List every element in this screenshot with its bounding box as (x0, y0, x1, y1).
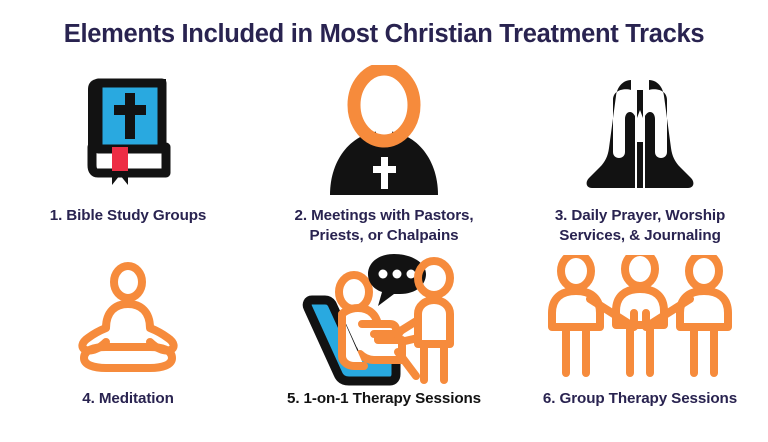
page-title: Elements Included in Most Christian Trea… (0, 20, 768, 48)
caption-item-6: 6. Group Therapy Sessions (537, 389, 743, 409)
element-item-6: 6. Group Therapy Sessions (512, 250, 768, 435)
element-item-1: 1. Bible Study Groups (0, 62, 256, 250)
caption-item-5: 5. 1-on-1 Therapy Sessions (281, 389, 487, 409)
element-item-2: 2. Meetings with Pastors, Priests, or Ch… (256, 62, 512, 250)
element-item-5: 5. 1-on-1 Therapy Sessions (256, 250, 512, 435)
caption-item-1: 1. Bible Study Groups (44, 206, 213, 226)
element-item-4: 4. Meditation (0, 250, 256, 435)
meditation-lotus-icon (0, 250, 256, 385)
element-item-3: 3. Daily Prayer, Worship Services, & Jou… (512, 62, 768, 250)
praying-hands-icon (512, 62, 768, 202)
bible-book-icon (0, 62, 256, 202)
caption-item-4: 4. Meditation (76, 389, 180, 409)
caption-item-2: 2. Meetings with Pastors, Priests, or Ch… (289, 206, 480, 246)
caption-item-3: 3. Daily Prayer, Worship Services, & Jou… (549, 206, 731, 246)
group-therapy-icon (512, 250, 768, 385)
infographic-root: Elements Included in Most Christian Trea… (0, 0, 768, 442)
elements-grid: 1. Bible Study Groups 2. Meetin (0, 62, 768, 442)
one-on-one-therapy-icon (256, 250, 512, 385)
priest-pastor-icon (256, 62, 512, 202)
